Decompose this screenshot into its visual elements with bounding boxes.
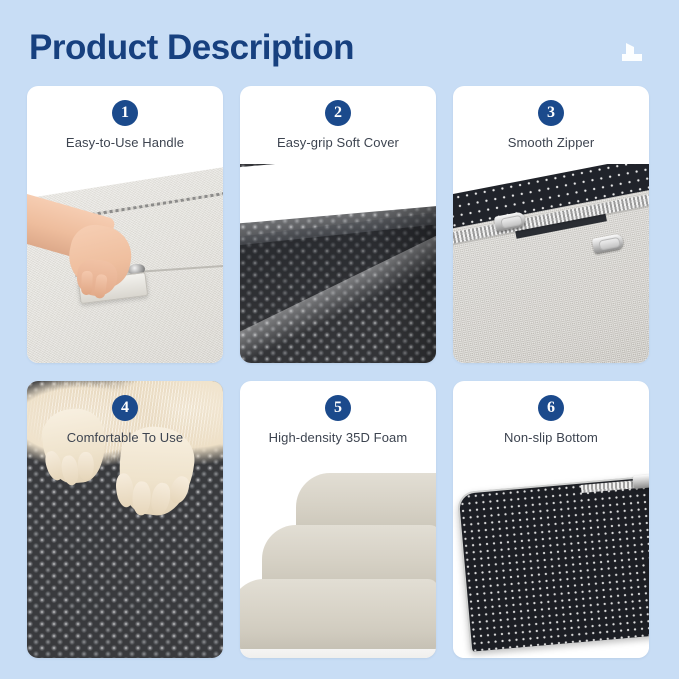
paw-toe bbox=[149, 481, 173, 516]
card-number-badge: 2 bbox=[325, 100, 351, 126]
card-number-badge: 6 bbox=[538, 395, 564, 421]
card-label: Easy-to-Use Handle bbox=[66, 135, 184, 150]
feature-card-non-slip-bottom[interactable]: 6 Non-slip Bottom bbox=[453, 381, 649, 658]
non-slip-dotted-panel bbox=[456, 474, 649, 652]
card-number-badge: 4 bbox=[112, 395, 138, 421]
card-header: 3 Smooth Zipper bbox=[453, 86, 649, 164]
card-number-badge: 5 bbox=[325, 395, 351, 421]
card-header: 6 Non-slip Bottom bbox=[453, 381, 649, 459]
feature-card-easy-grip-soft-cover[interactable]: 2 Easy-grip Soft Cover bbox=[240, 86, 436, 363]
card-number-badge: 3 bbox=[538, 100, 564, 126]
card-number-badge: 1 bbox=[112, 100, 138, 126]
paw-toe bbox=[132, 481, 151, 516]
card-label: Non-slip Bottom bbox=[504, 430, 598, 445]
feature-card-comfortable-to-use[interactable]: 4 Comfortable To Use bbox=[27, 381, 223, 658]
card-image-non-slip-bottom bbox=[453, 459, 649, 658]
cloud-fold-icon bbox=[620, 41, 644, 63]
card-label: Comfortable To Use bbox=[67, 430, 183, 445]
card-header: 5 High-density 35D Foam bbox=[240, 381, 436, 459]
zipper-slider bbox=[632, 474, 649, 489]
card-image-smooth-zipper bbox=[453, 164, 649, 363]
card-label: Smooth Zipper bbox=[508, 135, 595, 150]
page-title: Product Description bbox=[29, 26, 354, 70]
card-label: Easy-grip Soft Cover bbox=[277, 135, 399, 150]
feature-card-easy-to-use-handle[interactable]: 1 Easy-to-Use Handle bbox=[27, 86, 223, 363]
card-header: 1 Easy-to-Use Handle bbox=[27, 86, 223, 164]
feature-card-high-density-35d-foam[interactable]: 5 High-density 35D Foam bbox=[240, 381, 436, 658]
card-header: 2 Easy-grip Soft Cover bbox=[240, 86, 436, 164]
feature-card-grid: 1 Easy-to-Use Handle 2 Easy-grip Soft Co… bbox=[27, 86, 652, 658]
card-image-easy-to-use-handle bbox=[27, 164, 223, 363]
card-image-easy-grip-soft-cover bbox=[240, 164, 436, 363]
card-header: 4 Comfortable To Use bbox=[27, 381, 223, 459]
card-label: High-density 35D Foam bbox=[269, 430, 408, 445]
card-image-high-density-35d-foam bbox=[240, 459, 436, 658]
fabric-edge-shadow bbox=[370, 202, 436, 363]
feature-card-smooth-zipper[interactable]: 3 Smooth Zipper bbox=[453, 86, 649, 363]
floor-shadow bbox=[240, 632, 436, 658]
